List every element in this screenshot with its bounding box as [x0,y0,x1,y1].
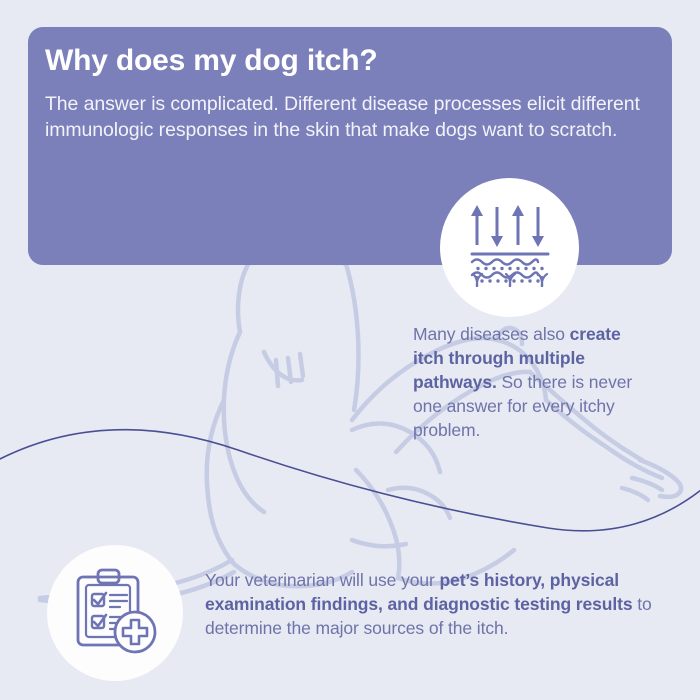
skin-layers-arrows-icon [470,205,550,287]
veterinary-diagnosis-text: Your veterinarian will use your pet’s hi… [205,568,657,640]
clipboard-checklist-medical-cross-icon [75,568,157,656]
infographic-canvas: Why does my dog itch? The answer is comp… [0,0,700,700]
horizon-curve [0,430,700,531]
page-title: Why does my dog itch? [44,41,642,81]
text-run-plain-3: Your veterinarian will use your [205,570,439,590]
multiple-pathways-text: Many diseases also create itch through m… [413,322,645,442]
header-body-text: The answer is complicated. Different dis… [45,92,642,143]
text-run-plain-1: Many diseases also [413,324,570,344]
